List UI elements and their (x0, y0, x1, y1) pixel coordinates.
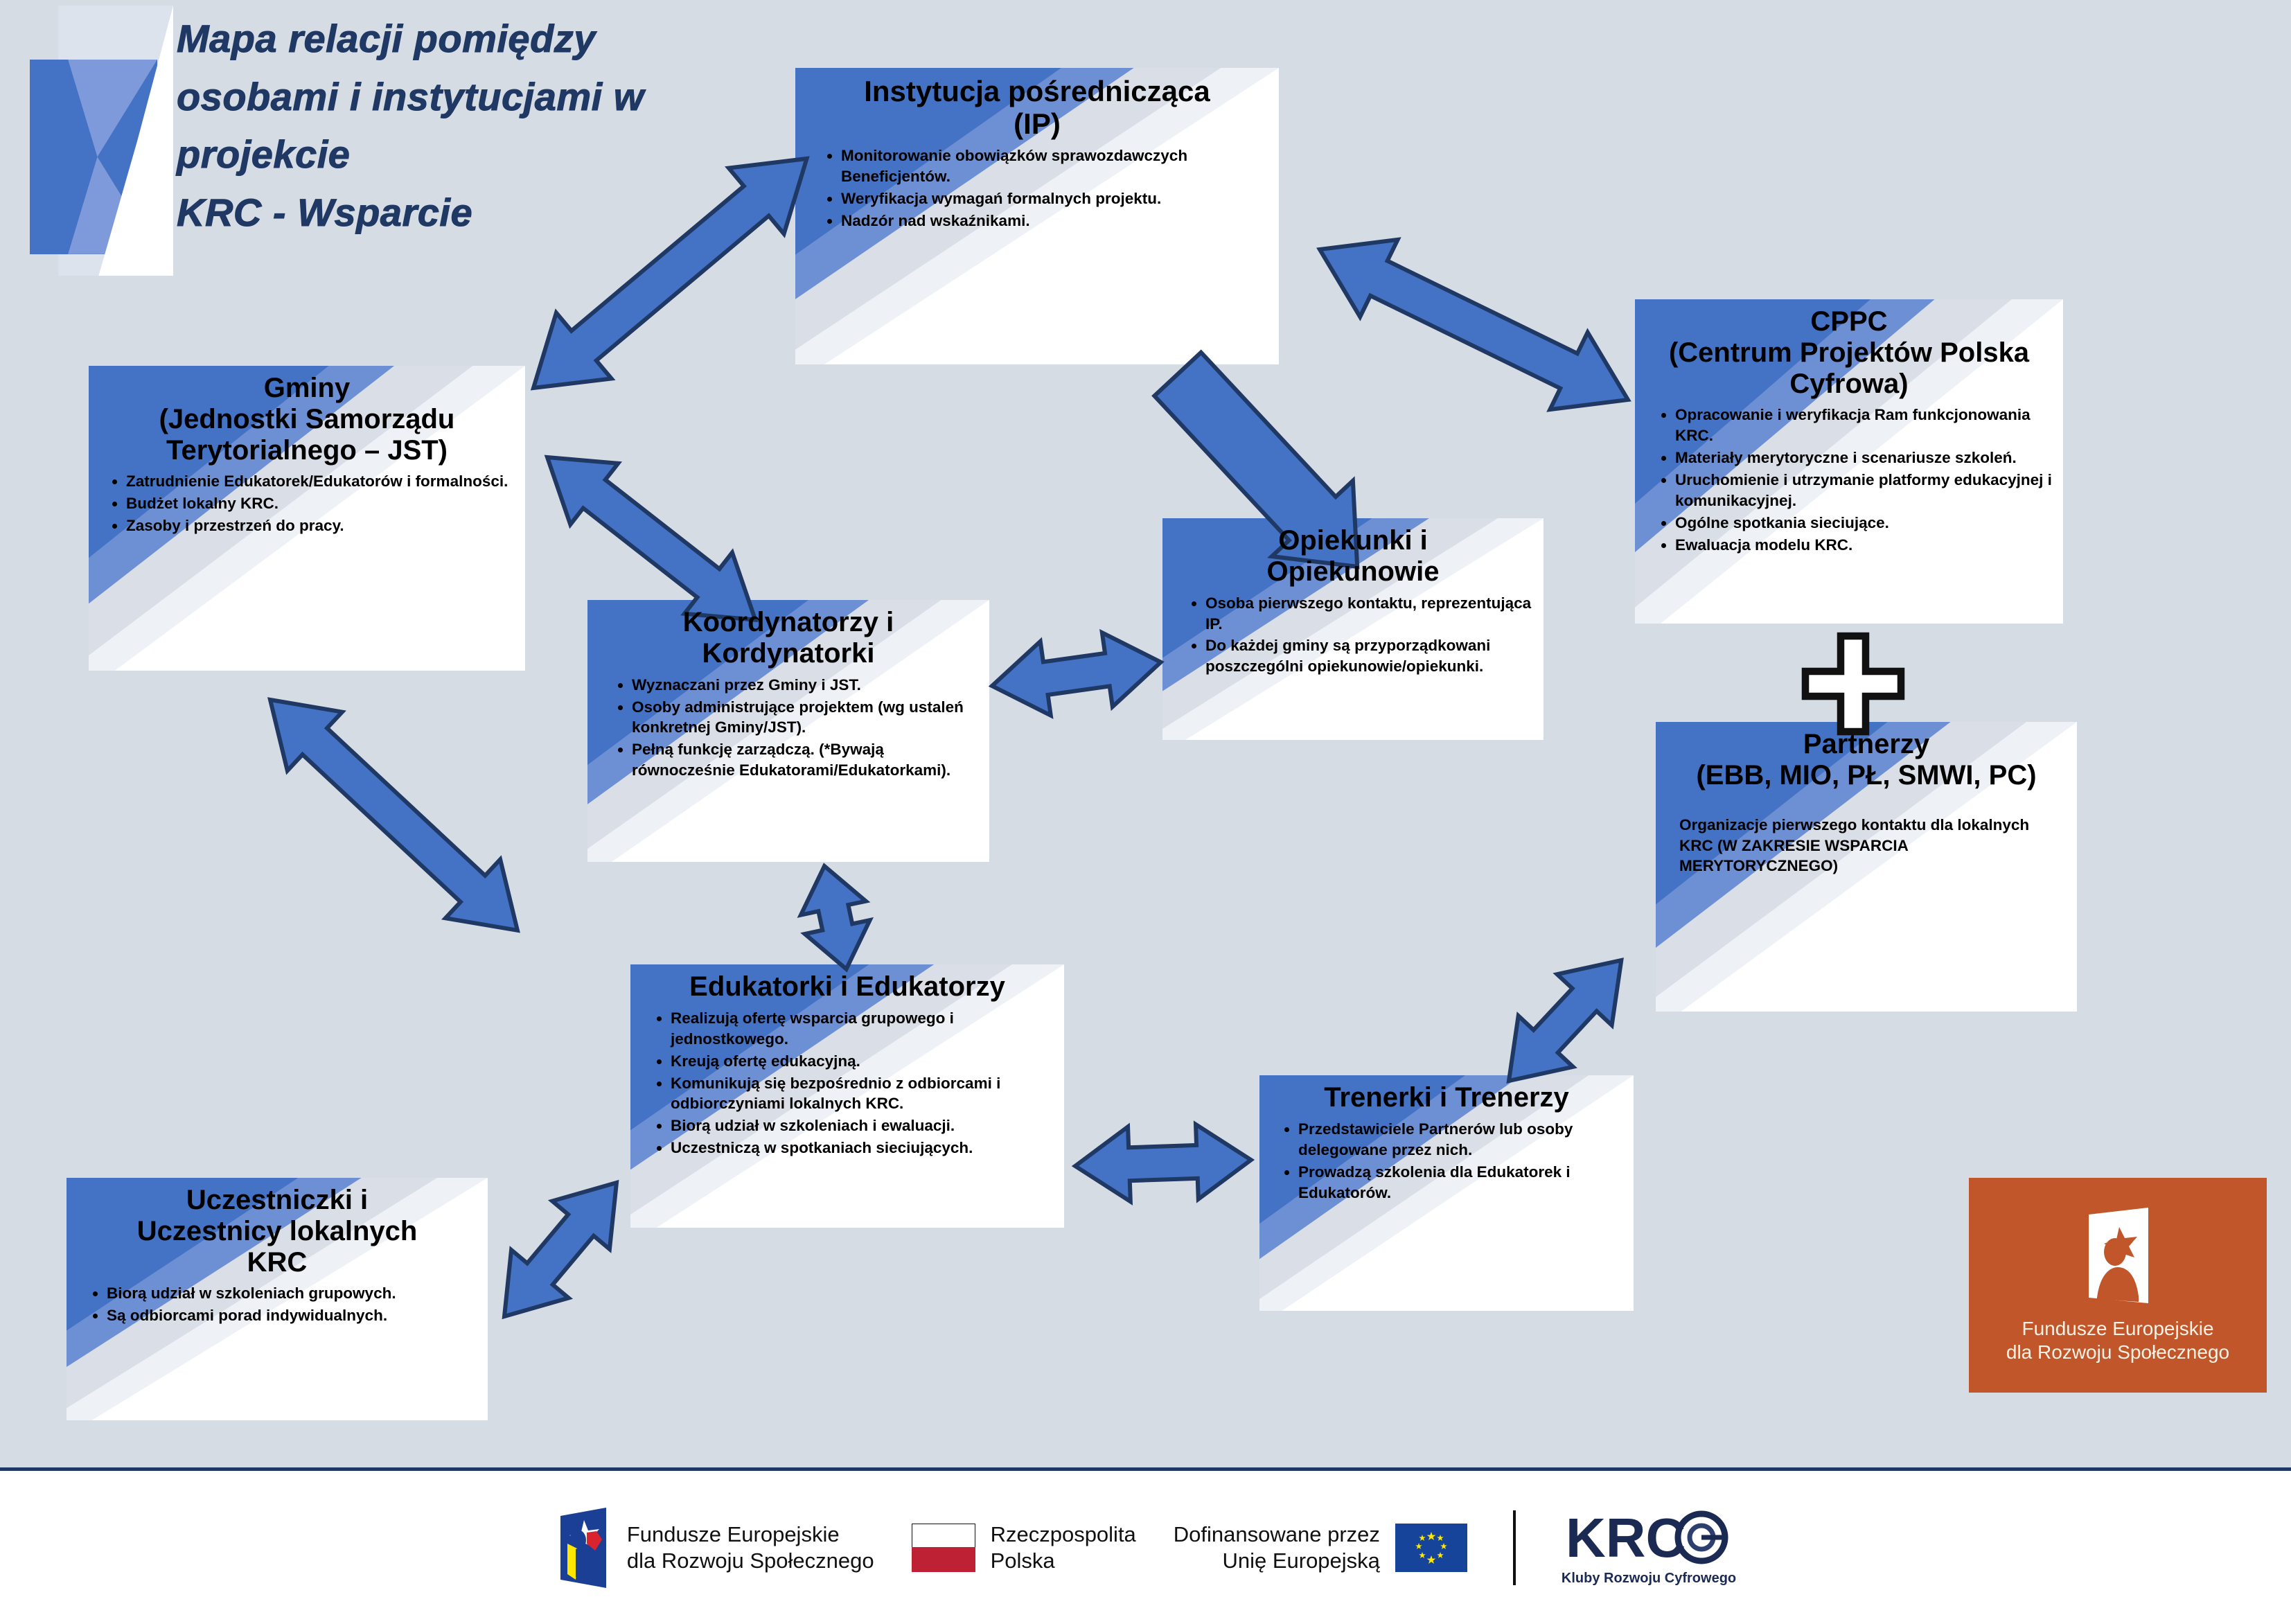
node-bullet-list: Zatrudnienie Edukatorek/Edukatorów i for… (100, 471, 514, 536)
footer-rzeczpospolita-line-1: Rzeczpospolita (991, 1521, 1136, 1548)
node-heading-line-2: Opiekunowie (1267, 556, 1440, 587)
footer-krc-logo: KRC Kluby Rozwoju Cyfrowego (1562, 1508, 1736, 1587)
list-item: Uczestniczą w spotkaniach sieciujących. (671, 1138, 1053, 1158)
footer-rzeczpospolita-line-2: Polska (991, 1548, 1136, 1574)
list-item: Ogólne spotkania sieciujące. (1675, 513, 2052, 533)
orange-card-text: Fundusze Europejskie dla Rozwoju Społecz… (2006, 1317, 2229, 1364)
node-heading-line-1: Uczestniczki i (186, 1185, 368, 1215)
node-heading-line-2: Uczestnicy lokalnych (137, 1216, 418, 1246)
arrow-edukatorzy-trenerzy (1074, 1122, 1253, 1203)
list-item: Ewaluacja modelu KRC. (1675, 535, 2052, 556)
node-heading: Gminy (Jednostki Samorządu Terytorialneg… (100, 373, 514, 466)
list-item: Pełną funkcję zarządczą. (*Bywają równoc… (632, 739, 978, 781)
node-heading: Koordynatorzy i Kordynatorki (599, 607, 978, 669)
footer-unia-text: Dofinansowane przez Unię Europejską (1174, 1521, 1380, 1574)
node-heading: Uczestniczki i Uczestnicy lokalnych KRC (78, 1185, 477, 1278)
node-bullet-list: Osoba pierwszego kontaktu, reprezentując… (1174, 593, 1532, 678)
footer-fundusze-text: Fundusze Europejskie dla Rozwoju Społecz… (627, 1521, 874, 1574)
orange-card-line-1: Fundusze Europejskie (2006, 1317, 2229, 1341)
node-heading-line-1: Gminy (264, 373, 350, 403)
infographic-canvas: Mapa relacji pomiędzy osobami i instytuc… (0, 0, 2291, 1621)
node-heading-line-2: Kordynatorki (702, 638, 875, 669)
list-item: Są odbiorcami porad indywidualnych. (107, 1305, 477, 1326)
footer-divider (1513, 1510, 1516, 1585)
list-item: Prowadzą szkolenia dla Edukatorek i Eduk… (1298, 1162, 1622, 1203)
node-bullet-list: Opracowanie i weryfikacja Ram funkcjonow… (1646, 405, 2052, 555)
node-heading-line-3: KRC (247, 1247, 308, 1278)
fundusze-europejskie-orange-card: Fundusze Europejskie dla Rozwoju Społecz… (1969, 1178, 2267, 1393)
node-heading-line-2: (IP) (1014, 107, 1061, 140)
node-heading-line-1: Edukatorki i Edukatorzy (689, 971, 1005, 1002)
node-heading-line-2: (Jednostki Samorządu (159, 404, 455, 434)
list-item: Budżet lokalny KRC. (126, 493, 514, 514)
node-heading: Instytucja pośrednicząca (IP) (806, 75, 1268, 140)
footer-unia-line-1: Dofinansowane przez (1174, 1521, 1380, 1548)
footer-rzeczpospolita-polska: Rzeczpospolita Polska (912, 1521, 1136, 1574)
node-heading-line-1: CPPC (1810, 306, 1887, 337)
list-item: Nadzór nad wskaźnikami. (841, 211, 1268, 231)
node-heading-line-1: Instytucja pośrednicząca (864, 75, 1210, 107)
node-bullet-list: Biorą udział w szkoleniach grupowych. Są… (78, 1283, 477, 1326)
list-item: Opracowanie i weryfikacja Ram funkcjonow… (1675, 405, 2052, 446)
list-item: Weryfikacja wymagań formalnych projektu. (841, 188, 1268, 209)
node-bullet-list: Realizują ofertę wsparcia grupowego i je… (642, 1008, 1053, 1158)
node-heading-line-2: (Centrum Projektów Polska (1669, 337, 2029, 368)
list-item: Zasoby i przestrzeń do pracy. (126, 515, 514, 536)
arrow-gminy-ip (506, 125, 834, 421)
arrow-edukatorzy-uczestnicy (476, 1158, 646, 1340)
footer-logo-bar: Fundusze Europejskie dla Rozwoju Społecz… (0, 1467, 2291, 1624)
node-heading-line-1: Koordynatorzy i (683, 607, 894, 637)
list-item: Komunikują się bezpośrednio z odbiorcami… (671, 1073, 1053, 1115)
eu-flag-icon (1395, 1524, 1467, 1572)
orange-card-line-2: dla Rozwoju Społecznego (2006, 1341, 2229, 1364)
list-item: Kreują ofertę edukacyjną. (671, 1051, 1053, 1072)
footer-unia-line-2: Unię Europejską (1174, 1548, 1380, 1574)
footer-fundusze-line-1: Fundusze Europejskie (627, 1521, 874, 1548)
node-body-text: Organizacje pierwszego kontaktu dla loka… (1679, 815, 2066, 877)
arrow-gminy-edukatorzy (242, 671, 545, 960)
list-item: Wyznaczani przez Gminy i JST. (632, 675, 978, 696)
list-item: Realizują ofertę wsparcia grupowego i je… (671, 1008, 1053, 1050)
node-bullet-list: Monitorowanie obowiązków sprawozdawczych… (806, 145, 1268, 231)
node-heading-line-2: (EBB, MIO, PŁ, SMWI, PC) (1696, 760, 2036, 791)
list-item: Osoby administrujące projektem (wg ustal… (632, 697, 978, 739)
plus-icon (1801, 632, 1905, 736)
node-heading: Partnerzy (EBB, MIO, PŁ, SMWI, PC) (1667, 729, 2066, 791)
footer-fundusze-europejskie: Fundusze Europejskie dla Rozwoju Społecz… (555, 1508, 874, 1588)
footer-rzeczpospolita-text: Rzeczpospolita Polska (991, 1521, 1136, 1574)
list-item: Przedstawiciele Partnerów lub osoby dele… (1298, 1119, 1622, 1160)
footer-unia-europejska: Dofinansowane przez Unię Europejską (1174, 1521, 1467, 1574)
list-item: Do każdej gminy są przyporządkowani posz… (1205, 635, 1532, 677)
node-bullet-list: Wyznaczani przez Gminy i JST. Osoby admi… (599, 675, 978, 782)
fundusze-europejskie-icon (2079, 1206, 2157, 1310)
arrow-koordynatorzy-opiekunowie (987, 625, 1166, 723)
list-item: Uruchomienie i utrzymanie platformy eduk… (1675, 470, 2052, 511)
polish-flag-icon (912, 1524, 975, 1572)
footer-krc-subtitle: Kluby Rozwoju Cyfrowego (1562, 1571, 1736, 1587)
list-item: Materiały merytoryczne i scenariusze szk… (1675, 448, 2052, 468)
list-item: Zatrudnienie Edukatorek/Edukatorów i for… (126, 471, 514, 492)
node-heading-line-1: Trenerki i Trenerzy (1324, 1082, 1569, 1113)
list-item: Biorą udział w szkoleniach i ewaluacji. (671, 1115, 1053, 1136)
node-heading-line-3: Cyfrowa) (1789, 369, 1908, 399)
list-item: Osoba pierwszego kontaktu, reprezentując… (1205, 593, 1532, 635)
node-heading: Edukatorki i Edukatorzy (642, 971, 1053, 1003)
fundusze-europejskie-icon (555, 1508, 612, 1588)
footer-fundusze-line-2: dla Rozwoju Społecznego (627, 1548, 874, 1574)
arrow-koordynatorzy-edukatorzy (792, 859, 879, 976)
svg-text:KRC: KRC (1566, 1508, 1686, 1568)
node-heading-line-3: Terytorialnego – JST) (166, 435, 448, 466)
node-heading: CPPC (Centrum Projektów Polska Cyfrowa) (1646, 306, 2052, 399)
node-heading-line-1: Opiekunki i (1278, 525, 1428, 556)
node-heading: Opiekunki i Opiekunowie (1174, 525, 1532, 588)
node-bullet-list: Przedstawiciele Partnerów lub osoby dele… (1271, 1119, 1622, 1203)
arrow-ip-cppc (1301, 211, 1647, 438)
list-item: Monitorowanie obowiązków sprawozdawczych… (841, 145, 1268, 187)
node-heading: Trenerki i Trenerzy (1271, 1082, 1622, 1113)
krc-wordmark-icon: KRC (1566, 1508, 1732, 1568)
list-item: Biorą udział w szkoleniach grupowych. (107, 1283, 477, 1304)
